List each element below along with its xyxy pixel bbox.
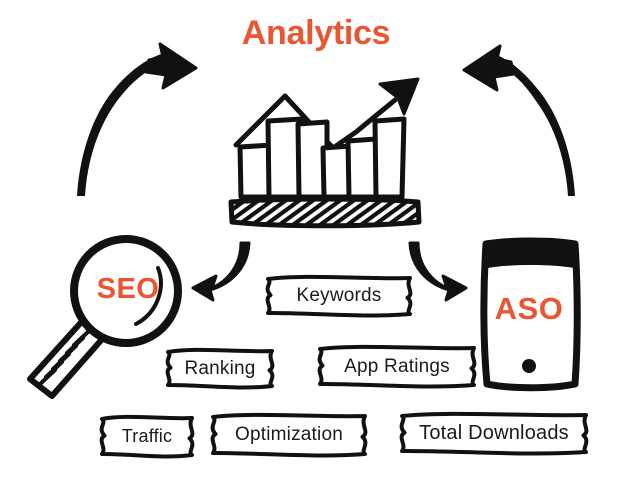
tag-label: Ranking [164,347,276,390]
tag-label: Traffic [98,414,196,459]
chart-base [231,199,419,226]
small-curved-arrow-down-left-icon [193,243,249,300]
chart-bar-6 [375,119,404,197]
aso-label: ASO [483,291,575,327]
tag-ranking[interactable]: Ranking [164,347,276,390]
tag-label: Optimization [209,412,369,458]
curved-arrow-up-left-icon [464,46,575,196]
tag-traffic[interactable]: Traffic [98,414,196,459]
chart-bar-5 [348,139,377,197]
bar-chart-growth-icon [231,79,419,226]
page-title: Analytics [0,14,632,53]
tag-label: Keywords [264,274,414,318]
magnifying-glass-icon [30,239,178,396]
seo-label: SEO [86,273,170,306]
home-button-dot [522,359,536,373]
analytics-infographic: Analytics SEO ASO KeywordsRankingApp Rat… [0,0,632,484]
tag-keywords[interactable]: Keywords [264,274,414,318]
tag-app-ratings[interactable]: App Ratings [316,344,478,389]
small-curved-arrow-down-right-icon [410,243,466,300]
tag-label: Total Downloads [398,411,590,456]
tag-total-downloads[interactable]: Total Downloads [398,411,590,456]
tag-optimization[interactable]: Optimization [209,412,369,458]
curved-arrow-up-right-icon [77,44,196,196]
tag-label: App Ratings [316,344,478,389]
